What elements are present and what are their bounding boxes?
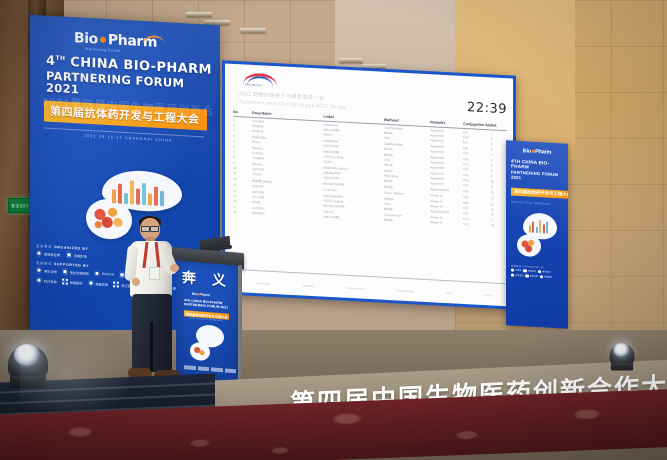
table-footer-note: Payload class xyxy=(397,288,414,293)
table-cell: 4 xyxy=(491,147,507,152)
backdrop-ordinal-suffix: TH xyxy=(55,55,65,63)
sponsor-name: 恒瑞医药 xyxy=(70,279,83,285)
sponsor-logo-icon xyxy=(511,273,514,277)
sponsor-chip: 科兴生物 xyxy=(36,277,57,284)
banner-sponsor-chip: 百奥泰 xyxy=(511,269,521,273)
sponsor-name: 荣昌生物 xyxy=(96,281,109,287)
backdrop-logo-bio: Bio xyxy=(74,31,98,46)
column-header-conjugation: Conjugation Site xyxy=(463,122,490,127)
banner-sponsor-chip: 君实生物 xyxy=(538,270,550,274)
sponsor-name: BeiGene xyxy=(102,272,114,277)
table-cell: 14 xyxy=(491,202,507,207)
table-cell: 3 xyxy=(491,142,507,147)
banner-sponsor-chip: 药明生物 xyxy=(523,269,535,273)
table-cell: 12 xyxy=(233,177,252,183)
sponsor-name: 君实生物 xyxy=(44,268,57,274)
speaker-badge xyxy=(149,267,160,280)
sponsor-logo-icon xyxy=(66,252,72,258)
speaker-person xyxy=(118,218,190,390)
banner-sponsor-zone: 支持单位 SUPPORTED BY 百奥泰药明生物君实生物信达生物复宏汉霖恒瑞医… xyxy=(511,263,563,280)
air-vent-icon xyxy=(339,58,363,63)
banner-sponsor-chip: 信达生物 xyxy=(511,273,523,277)
sponsor-chip: 信达生物制药 xyxy=(62,268,89,276)
table-cell: 18 xyxy=(233,210,252,215)
podium-title: 4TH CHINA BIO-PHARM PARTNERING FORUM 202… xyxy=(184,298,236,310)
eyeglasses-icon xyxy=(141,226,159,230)
podium-sponsor-strip xyxy=(184,365,236,373)
sponsor-logo-icon xyxy=(62,278,68,284)
banner-cityscape-icon xyxy=(529,218,555,233)
banner-logo: BioPharm xyxy=(511,148,563,157)
sponsor-logo-icon xyxy=(523,269,526,273)
sponsor-name: 百奥泰生物 xyxy=(44,251,60,257)
slide-clock: 22:39 xyxy=(467,100,507,117)
sponsor-logo-icon xyxy=(94,270,100,276)
table-cell: 10 xyxy=(491,179,507,184)
banner-illustration xyxy=(517,211,557,259)
sponsor-chip: BeiGene xyxy=(94,270,114,277)
column-header-remarks: Remarks xyxy=(430,120,463,126)
table-cell: Cys xyxy=(463,222,490,227)
sponsor-name: 信达生物制药 xyxy=(70,269,89,275)
sponsor-name: 百奥泰 xyxy=(515,269,521,272)
table-body: 1MylotargHydrazoneCalicheamicinApprovedL… xyxy=(233,117,507,229)
table-cell: MMAE xyxy=(384,218,431,224)
sponsor-name: 科兴生物 xyxy=(44,278,57,284)
table-cell: 16 xyxy=(491,213,507,218)
logo-dot-icon xyxy=(100,37,106,43)
podium-logo: BioPharm xyxy=(192,292,210,297)
banner-sponsor-list: 百奥泰药明生物君实生物信达生物复宏汉霖恒瑞医药 xyxy=(511,269,563,280)
table-cell: 12 xyxy=(491,190,507,196)
slide-logo: ANTIBODY xyxy=(243,72,277,88)
table-cell: 11 xyxy=(491,185,507,190)
sponsor-chip: 恒瑞医药 xyxy=(62,278,83,285)
sponsor-name: 复宏汉霖 xyxy=(530,275,538,278)
conference-photo-scene: 安全出口 EXIT Bio Pharm Partnering Forum 4TH… xyxy=(0,0,667,460)
table-cell: 6 xyxy=(491,158,507,163)
sponsor-logo-icon xyxy=(511,269,514,273)
table-footer-note: Source xyxy=(484,293,493,297)
slide-table: No. Drug Name Linker Warhead Remarks Con… xyxy=(233,110,507,280)
banner-logo-bio: Bio xyxy=(523,148,531,154)
stage-light-right xyxy=(608,340,635,371)
spotlight-lens-icon xyxy=(14,344,40,366)
sponsor-name: 君实生物 xyxy=(542,271,550,274)
table-cell: 5 xyxy=(491,153,507,158)
sponsor-name: 恒瑞医药 xyxy=(544,276,552,279)
table-cell: Phase II xyxy=(430,220,463,226)
sponsor-logo-icon xyxy=(62,268,68,274)
banner-sponsor-chip: 复宏汉霖 xyxy=(525,274,537,278)
table-cell: 1 xyxy=(491,131,507,136)
banner-date-line: 2021.09.15-17 SHANGHAI xyxy=(511,200,563,206)
column-header-no: No. xyxy=(233,110,252,115)
projection-screen: ANTIBODY ADC 药物的连接子与毒素载荷一览 Approved and … xyxy=(222,60,516,309)
table-footer-note: Non-cleavable xyxy=(347,286,365,291)
table-cell: 13 xyxy=(491,197,507,202)
sponsor-chip: 药明生物 xyxy=(66,252,87,259)
speaker-leg-gap xyxy=(150,322,153,372)
table-footer-note: Linker types xyxy=(255,281,270,286)
sponsor-logo-icon xyxy=(540,275,543,279)
sponsor-name: 药明生物 xyxy=(74,253,87,259)
banner-logo-pharm: Pharm xyxy=(535,149,551,156)
sponsor-logo-icon xyxy=(88,280,94,286)
table-cell: 8 xyxy=(491,169,507,174)
column-header-linker: Linker xyxy=(323,115,383,122)
podium-molecule-icon xyxy=(193,345,207,358)
vertical-banner: BioPharm 4TH CHINA BIO-PHARM PARTNERING … xyxy=(506,140,568,328)
speaker-hand-right xyxy=(170,264,179,272)
sponsor-chip: 百奥泰生物 xyxy=(36,250,60,257)
cityscape-icon xyxy=(112,177,178,207)
sponsor-logo-icon xyxy=(36,267,42,273)
spotlight-lens-icon xyxy=(613,343,629,357)
table-cell: 15 xyxy=(491,207,507,212)
slide-canvas: ANTIBODY ADC 药物的连接子与毒素载荷一览 Approved and … xyxy=(225,63,513,306)
column-header-warhead: Warhead xyxy=(384,118,431,124)
air-vent-icon xyxy=(240,28,266,33)
column-header-ref: Ref. xyxy=(491,123,507,128)
table-footer-note: DAR xyxy=(446,291,452,295)
table-cell: 7 xyxy=(491,163,507,168)
table-cell: 2 xyxy=(491,136,507,141)
sponsor-logo-icon xyxy=(538,270,541,274)
banner-title-line2: PARTNERING FORUM 2021 xyxy=(511,169,563,182)
table-footer-note: Cleavable xyxy=(302,283,314,288)
air-vent-icon xyxy=(186,12,212,17)
sponsor-name: 药明生物 xyxy=(528,270,536,273)
table-cell: 18 xyxy=(491,223,507,228)
table-cell: 9 xyxy=(491,174,507,179)
banner-sponsor-chip: 恒瑞医药 xyxy=(540,275,552,279)
slide-logo-caption: ANTIBODY xyxy=(245,83,263,88)
sponsor-logo-icon xyxy=(36,250,42,256)
banner-chinese-title: 第四届抗体药开发与工程大会 xyxy=(511,187,568,199)
sponsor-chip: 君实生物 xyxy=(36,267,57,274)
stage-light-left xyxy=(6,338,50,388)
sponsor-logo-icon xyxy=(525,274,528,278)
sponsor-name: 信达生物 xyxy=(515,274,523,277)
podium-illustration xyxy=(190,324,224,365)
speaker-hand-left xyxy=(132,278,140,286)
table-footer-notes: Linker typesCleavableNon-cleavablePayloa… xyxy=(255,281,493,297)
table-cell: 17 xyxy=(491,218,507,223)
sponsor-logo-icon xyxy=(36,277,42,283)
sponsor-chip: 荣昌生物 xyxy=(88,280,109,287)
